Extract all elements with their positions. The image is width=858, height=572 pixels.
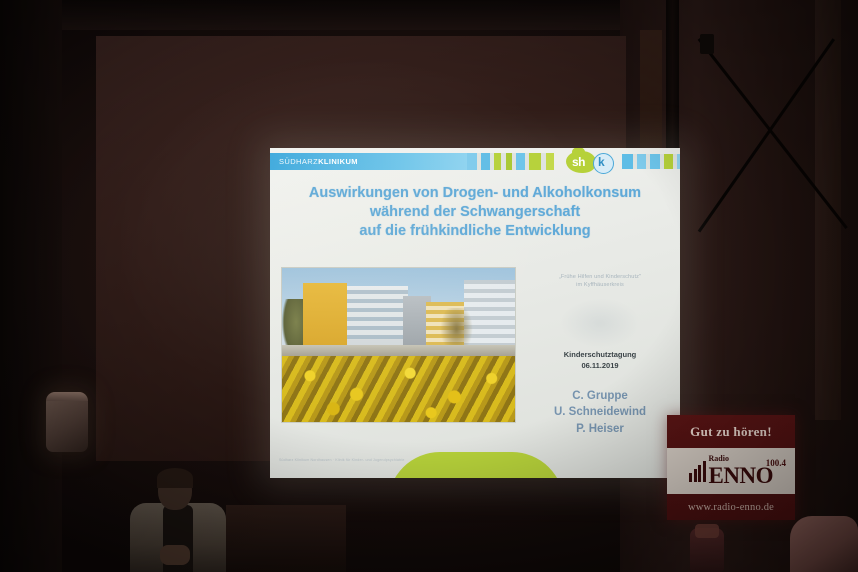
equalizer-bars-icon [689,460,706,482]
cable-clip [700,34,714,54]
header-color-bars-right [622,154,680,169]
hospital-photo [281,267,516,423]
left-wall [0,0,62,572]
mascot-head [695,524,719,538]
banner-brand: Radio ENNO [709,455,773,487]
banner-brand-small: Radio [709,455,773,463]
banner-brand-main: ENNO [709,464,773,487]
wall-lamp-top [46,392,88,401]
author-1: C. Gruppe [520,388,680,404]
title-line-3: auf die frühkindliche Entwicklung [282,222,668,241]
brand-bar: SÜDHARZKLINIKUM [270,153,467,170]
slide-footer: Südharz Klinikum Nordhausen · Klinik für… [279,458,499,462]
presenter-hand [160,545,190,565]
front-table [226,505,346,572]
banner-website-row: www.radio-enno.de [667,494,795,520]
faint-watermark-graphic [560,298,640,348]
event-date: 06.11.2019 [525,361,675,372]
green-arc-decoration [388,452,564,478]
slide-subtitle: „Frühe Hilfen und Kinderschutz" im Kyffh… [525,273,675,290]
header-color-bars [467,153,554,170]
banner-website: www.radio-enno.de [688,502,774,513]
brand-suffix: KLINIKUM [318,157,358,166]
author-list: C. Gruppe U. Schneidewind P. Heiser [520,388,680,437]
wall-lamp [46,392,88,452]
projection-screen: SÜDHARZKLINIKUM [96,36,626,461]
event-name: Kinderschutztagung [525,350,675,361]
author-3: P. Heiser [520,421,680,437]
banner-tagline: Gut zu hören! [690,424,772,440]
banner-tagline-row: Gut zu hören! [667,415,795,448]
radio-enno-banner: Gut zu hören! Radio ENNO 100.4 www.radio… [667,415,795,520]
logo-sh-text: sh [572,155,585,169]
slide-header: SÜDHARZKLINIKUM [270,153,680,170]
room-scene: SÜDHARZKLINIKUM [0,0,858,572]
photo-building-yellow [303,283,347,354]
banner-frequency: 100.4 [766,458,786,468]
logo-k-text: k [598,155,605,169]
photo-building-windows [347,290,408,339]
subtitle-line-2: im Kyffhäuserkreis [525,281,675,289]
photo-flower-field [282,356,515,422]
slide-title: Auswirkungen von Drogen- und Alkoholkons… [282,184,668,241]
title-line-1: Auswirkungen von Drogen- und Alkoholkons… [282,184,668,203]
presentation-slide: SÜDHARZKLINIKUM [270,148,680,478]
event-info: Kinderschutztagung 06.11.2019 [525,350,675,372]
presenter-hair [157,468,193,488]
subtitle-line-1: „Frühe Hilfen und Kinderschutz" [525,273,675,281]
author-2: U. Schneidewind [520,404,680,420]
footer-text: Südharz Klinikum Nordhausen · Klinik für… [279,458,499,462]
banner-logo-row: Radio ENNO 100.4 [667,448,795,494]
foreground-object [790,516,858,572]
brand-prefix: SÜDHARZ [279,157,318,166]
title-line-2: während der Schwangerschaft [282,203,668,222]
shk-logo: sh k [566,149,616,174]
